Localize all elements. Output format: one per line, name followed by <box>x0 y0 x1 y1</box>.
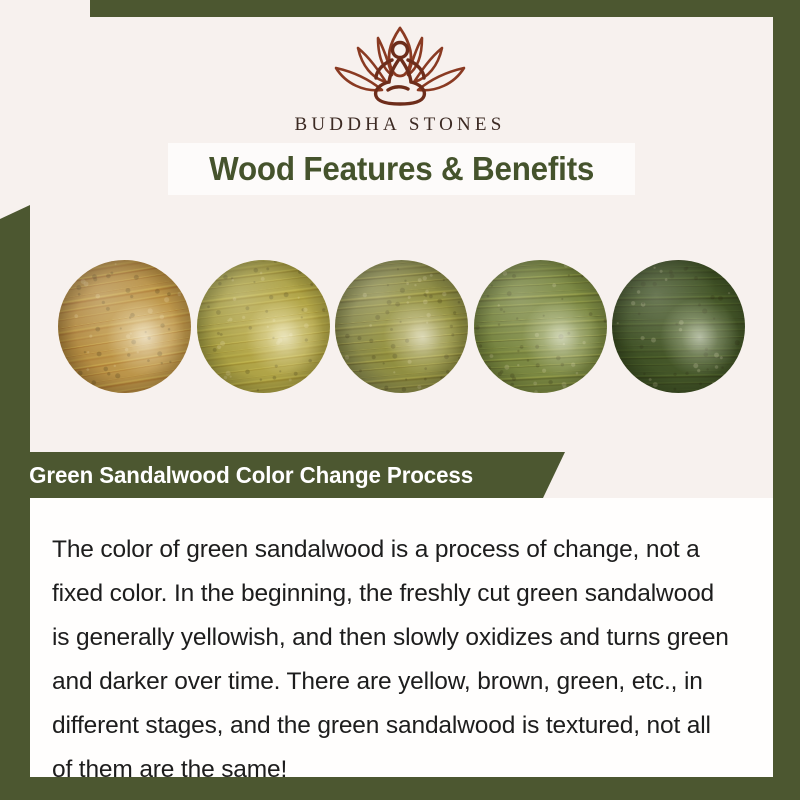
lotus-meditation-figure-icon <box>310 18 490 110</box>
bead-stage-4 <box>474 260 607 393</box>
brand-header: BUDDHA STONES <box>0 18 800 136</box>
bead-stage-3 <box>335 260 468 393</box>
frame-left-bar <box>0 205 30 800</box>
section-banner: Green Sandalwood Color Change Process <box>0 452 565 498</box>
page-title: Wood Features & Benefits <box>209 150 594 188</box>
bead-gloss-highlight <box>197 260 330 393</box>
bead-gloss-highlight <box>474 260 607 393</box>
infographic-canvas: BUDDHA STONES Wood Features & Benefits <box>0 0 800 800</box>
bead-stage-2 <box>197 260 330 393</box>
bead-stage-5 <box>612 260 745 393</box>
bead-gloss-highlight <box>335 260 468 393</box>
bead-gloss-highlight <box>612 260 745 393</box>
bead-gallery <box>30 206 773 446</box>
brand-name: BUDDHA STONES <box>0 114 800 136</box>
frame-top-bar <box>90 0 800 17</box>
bead-stage-1 <box>58 260 191 393</box>
page-title-band: Wood Features & Benefits <box>168 143 635 195</box>
section-banner-label: Green Sandalwood Color Change Process <box>0 462 473 489</box>
body-card: The color of green sandalwood is a proce… <box>30 498 773 777</box>
body-paragraph: The color of green sandalwood is a proce… <box>52 528 731 792</box>
bead-gloss-highlight <box>58 260 191 393</box>
